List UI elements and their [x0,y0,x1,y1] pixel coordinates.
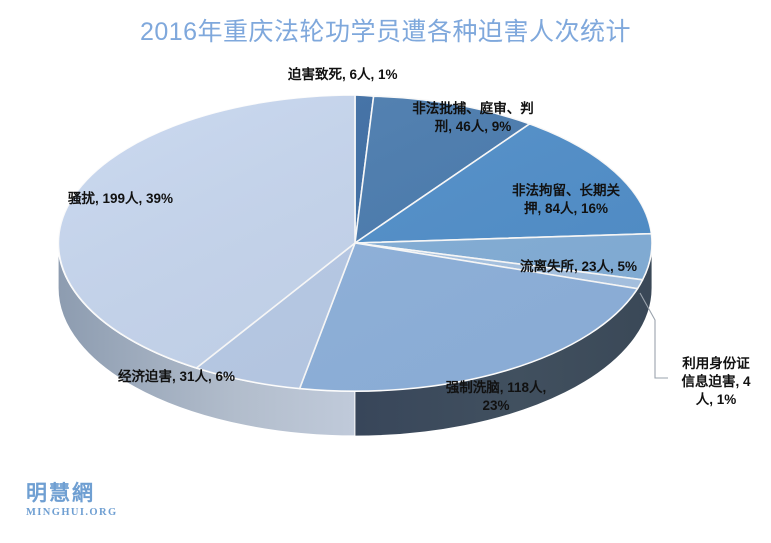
pie-label-liuli-shisuo: 流离失所, 23人, 5% [520,258,690,276]
minghui-watermark: 明慧網 MINGHUI.ORG [26,483,166,518]
pie-label-shenfenzheng: 利用身份证 信息迫害, 4 人, 1% [668,355,764,410]
pie-label-saorao: 骚扰, 199人, 39% [68,190,248,208]
pie-label-qiangzhi-xinao: 强制洗脑, 118人, 23% [406,379,586,415]
pie-top-sheen [58,95,652,391]
watermark-chinese-text: 明慧網 [26,483,166,504]
pie-label-jingji-pohai: 经济迫害, 31人, 6% [118,368,298,386]
watermark-english-text: MINGHUI.ORG [26,507,166,518]
pie-chart-container: 2016年重庆法轮功学员遭各种迫害人次统计 [0,0,771,543]
pie-label-feifa-juliu: 非法拘留、长期关 押, 84人, 16% [480,182,652,218]
pie-label-feifa-pibu: 非法批捕、庭审、判 刑, 46人, 9% [378,100,568,136]
pie-label-pohai-zhisi: 迫害致死, 6人, 1% [288,66,478,84]
